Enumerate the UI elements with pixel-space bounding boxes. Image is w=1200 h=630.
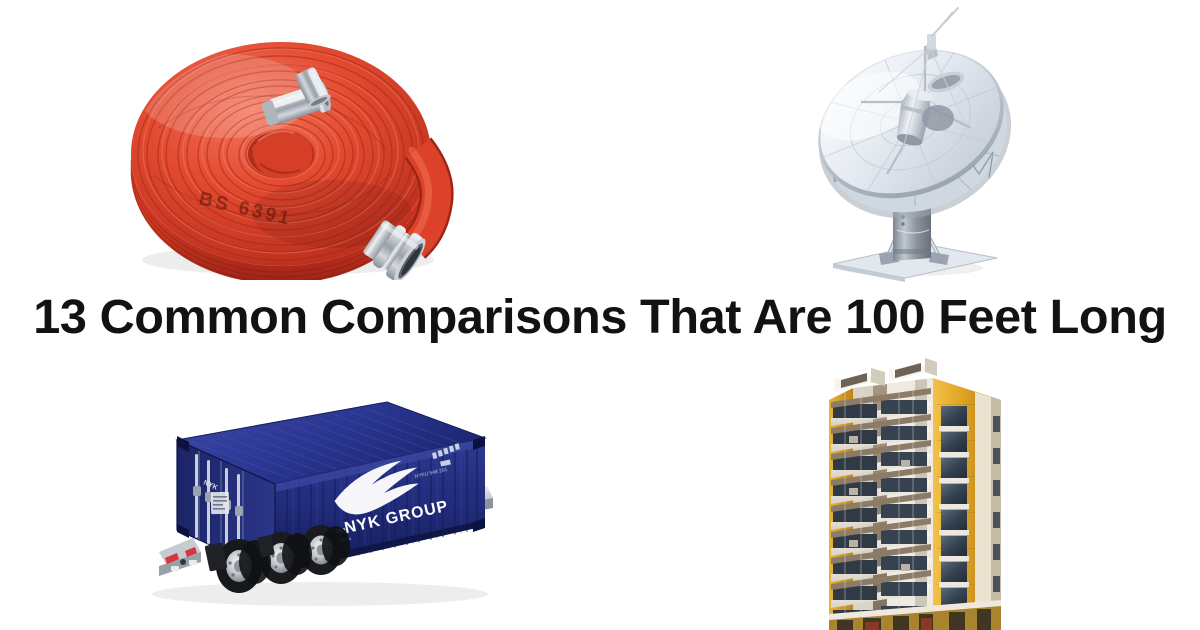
collage-canvas: BS 6391 [0, 0, 1200, 630]
image-fire-hose: BS 6391 [118, 8, 468, 280]
title-band: 13 Common Comparisons That Are 100 Feet … [0, 288, 1200, 346]
image-shipping-container-trailer: NYK NYK GROUP NYKU 548 201 [115, 366, 515, 612]
page-title: 13 Common Comparisons That Are 100 Feet … [33, 293, 1167, 342]
image-satellite-dish [775, 6, 1065, 282]
image-apartment-building [815, 344, 1015, 630]
